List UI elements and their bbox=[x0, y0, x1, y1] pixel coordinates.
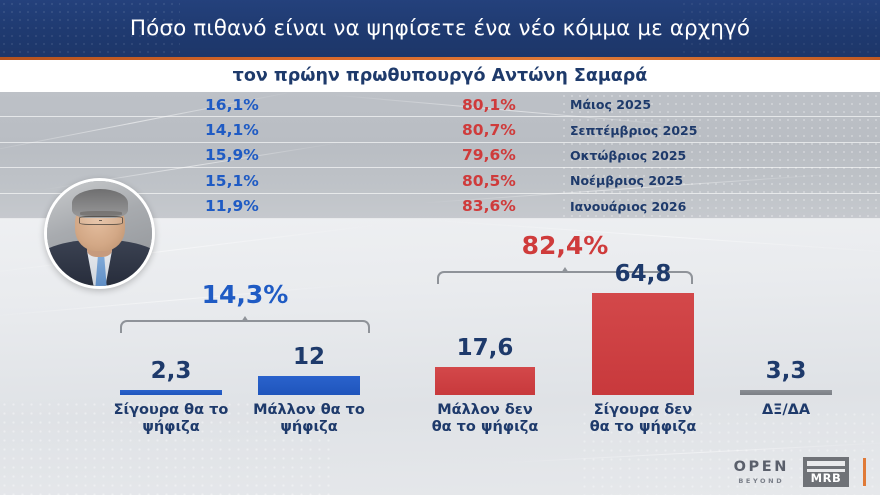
open-logo-text: OPEN bbox=[734, 460, 789, 475]
bar-label-line2: ψήφιζα bbox=[280, 419, 337, 435]
bar-label-line2: θα το ψήφιζα bbox=[590, 419, 697, 435]
bar-label-line1: Μάλλον δεν bbox=[437, 402, 533, 418]
beyond-logo-text: BEYOND bbox=[734, 478, 789, 485]
open-beyond-logo: OPEN BEYOND bbox=[734, 460, 789, 484]
bar-5 bbox=[740, 390, 832, 395]
infographic-root: Πόσο πιθανό είναι να ψηφίσετε ένα νέο κό… bbox=[0, 0, 880, 495]
footer-logos: OPEN BEYOND MRB bbox=[734, 457, 866, 487]
bar-label-2: Μάλλον θα τοψήφιζα bbox=[230, 402, 388, 436]
logo-accent-bar bbox=[863, 458, 866, 486]
bar-label-5: ΔΞ/ΔΑ bbox=[712, 402, 860, 419]
bar-label-line2: ψήφιζα bbox=[142, 419, 199, 435]
bar-label-line1: Σίγουρα θα το bbox=[114, 402, 229, 418]
mrb-logo-text: MRB bbox=[803, 471, 849, 487]
mrb-logo: MRB bbox=[803, 457, 849, 487]
bar-label-1: Σίγουρα θα τοψήφιζα bbox=[92, 402, 250, 436]
bar-value-4: 64,8 bbox=[572, 263, 714, 286]
bar-value-3: 17,6 bbox=[415, 337, 555, 360]
bar-value-1: 2,3 bbox=[100, 360, 242, 383]
bar-label-line1: Σίγουρα δεν bbox=[594, 402, 692, 418]
bar-4 bbox=[592, 293, 694, 395]
bar-label-line1: Μάλλον θα το bbox=[253, 402, 365, 418]
bar-chart: 2,3Σίγουρα θα τοψήφιζα12Μάλλον θα τοψήφι… bbox=[0, 0, 880, 495]
bar-label-3: Μάλλον δενθα το ψήφιζα bbox=[407, 402, 563, 436]
bar-1 bbox=[120, 390, 222, 395]
bar-3 bbox=[435, 367, 535, 395]
bar-value-2: 12 bbox=[238, 346, 380, 369]
bar-2 bbox=[258, 376, 360, 395]
bar-label-line1: ΔΞ/ΔΑ bbox=[762, 402, 810, 418]
bar-value-5: 3,3 bbox=[720, 360, 852, 383]
bar-label-line2: θα το ψήφιζα bbox=[432, 419, 539, 435]
bar-label-4: Σίγουρα δενθα το ψήφιζα bbox=[564, 402, 722, 436]
